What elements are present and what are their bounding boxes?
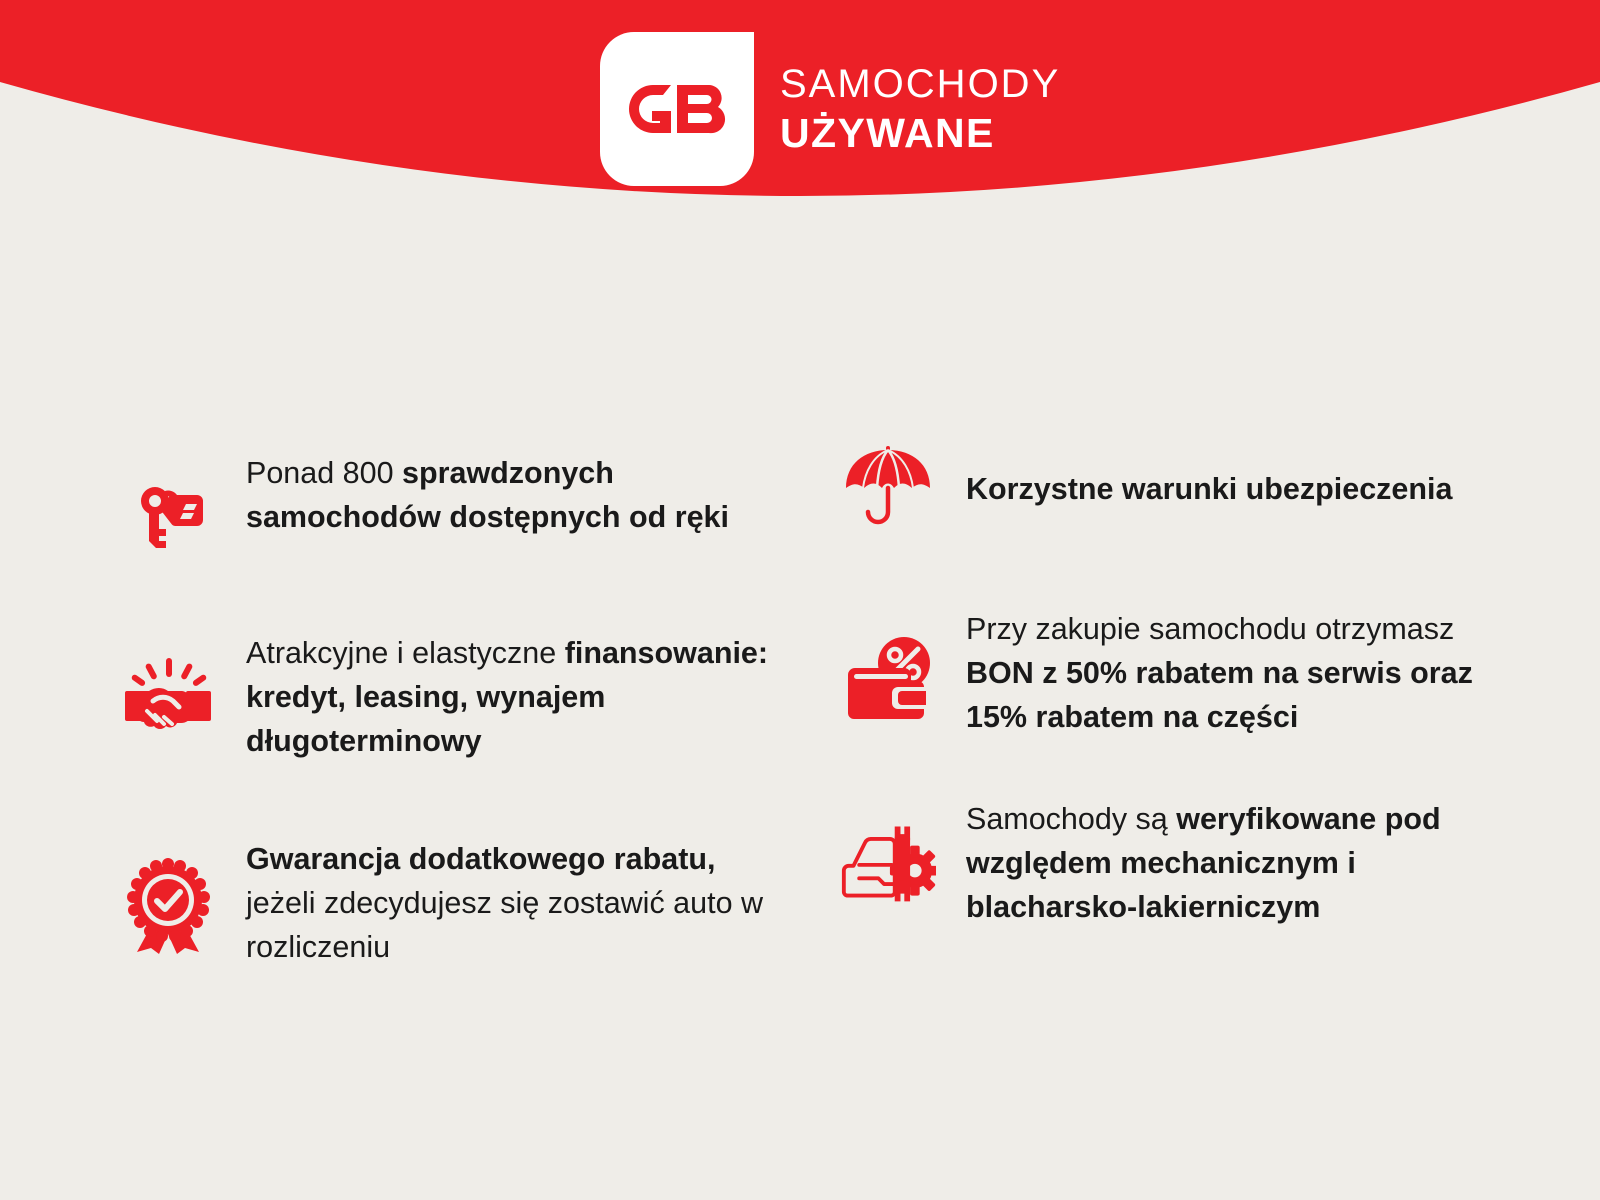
benefit-text-bold: BON z 50% rabatem na serwis oraz 15% rab… xyxy=(966,656,1473,734)
benefit-text: Korzystne warunki ubezpieczenia xyxy=(966,442,1452,512)
benefit-text: Przy zakupie samochodu otrzymasz BON z 5… xyxy=(966,606,1526,740)
wordmark-line-2: UŻYWANE xyxy=(780,113,1060,154)
benefit-item-available-cars: Ponad 800 sprawdzonych samochodów dostęp… xyxy=(120,450,840,562)
benefit-item-extra-discount: Gwarancja dodatkowego rabatu, jeżeli zde… xyxy=(120,836,840,970)
benefit-item-insurance: Korzystne warunki ubezpieczenia xyxy=(840,442,1600,534)
benefit-text-bold: Korzystne warunki ubezpieczenia xyxy=(966,472,1452,506)
benefits-column-left: Ponad 800 sprawdzonych samochodów dostęp… xyxy=(120,430,840,969)
benefit-text-regular: Ponad 800 xyxy=(246,456,402,490)
benefit-text-regular: Przy zakupie samochodu otrzymasz xyxy=(966,612,1454,646)
benefit-text: Atrakcyjne i elastyczne finansowanie: kr… xyxy=(246,630,776,764)
rosette-check-icon xyxy=(120,858,216,954)
benefit-text: Samochody są weryfikowane pod względem m… xyxy=(966,796,1526,930)
brand-wordmark: SAMOCHODY UŻYWANE xyxy=(780,64,1060,154)
benefits-column-right: Korzystne warunki ubezpieczenia xyxy=(840,430,1600,969)
benefit-text-regular: Samochody są xyxy=(966,802,1176,836)
benefit-item-service-voucher: Przy zakupie samochodu otrzymasz BON z 5… xyxy=(840,606,1600,740)
benefit-item-verification: Samochody są weryfikowane pod względem m… xyxy=(840,796,1600,930)
benefit-text-regular: Atrakcyjne i elastyczne xyxy=(246,636,565,670)
brand-logo-lockup[interactable]: SAMOCHODY UŻYWANE xyxy=(600,32,1060,186)
wallet-percent-icon xyxy=(840,630,936,726)
benefit-text: Ponad 800 sprawdzonych samochodów dostęp… xyxy=(246,450,776,540)
benefit-item-financing: Atrakcyjne i elastyczne finansowanie: kr… xyxy=(120,630,840,764)
wordmark-line-1: SAMOCHODY xyxy=(780,64,1060,104)
benefit-text: Gwarancja dodatkowego rabatu, jeżeli zde… xyxy=(246,836,776,970)
gb-monogram-icon xyxy=(625,80,729,138)
benefits-grid: Ponad 800 sprawdzonych samochodów dostęp… xyxy=(0,430,1600,969)
benefit-text-bold: Gwarancja dodatkowego rabatu, xyxy=(246,842,715,876)
umbrella-icon xyxy=(840,438,936,534)
car-key-tag-icon xyxy=(120,466,216,562)
gb-logo-mark xyxy=(600,32,754,186)
car-wrench-gear-icon xyxy=(840,814,936,910)
benefit-text-regular: jeżeli zdecydujesz się zostawić auto w r… xyxy=(246,886,763,964)
handshake-icon xyxy=(120,648,216,744)
